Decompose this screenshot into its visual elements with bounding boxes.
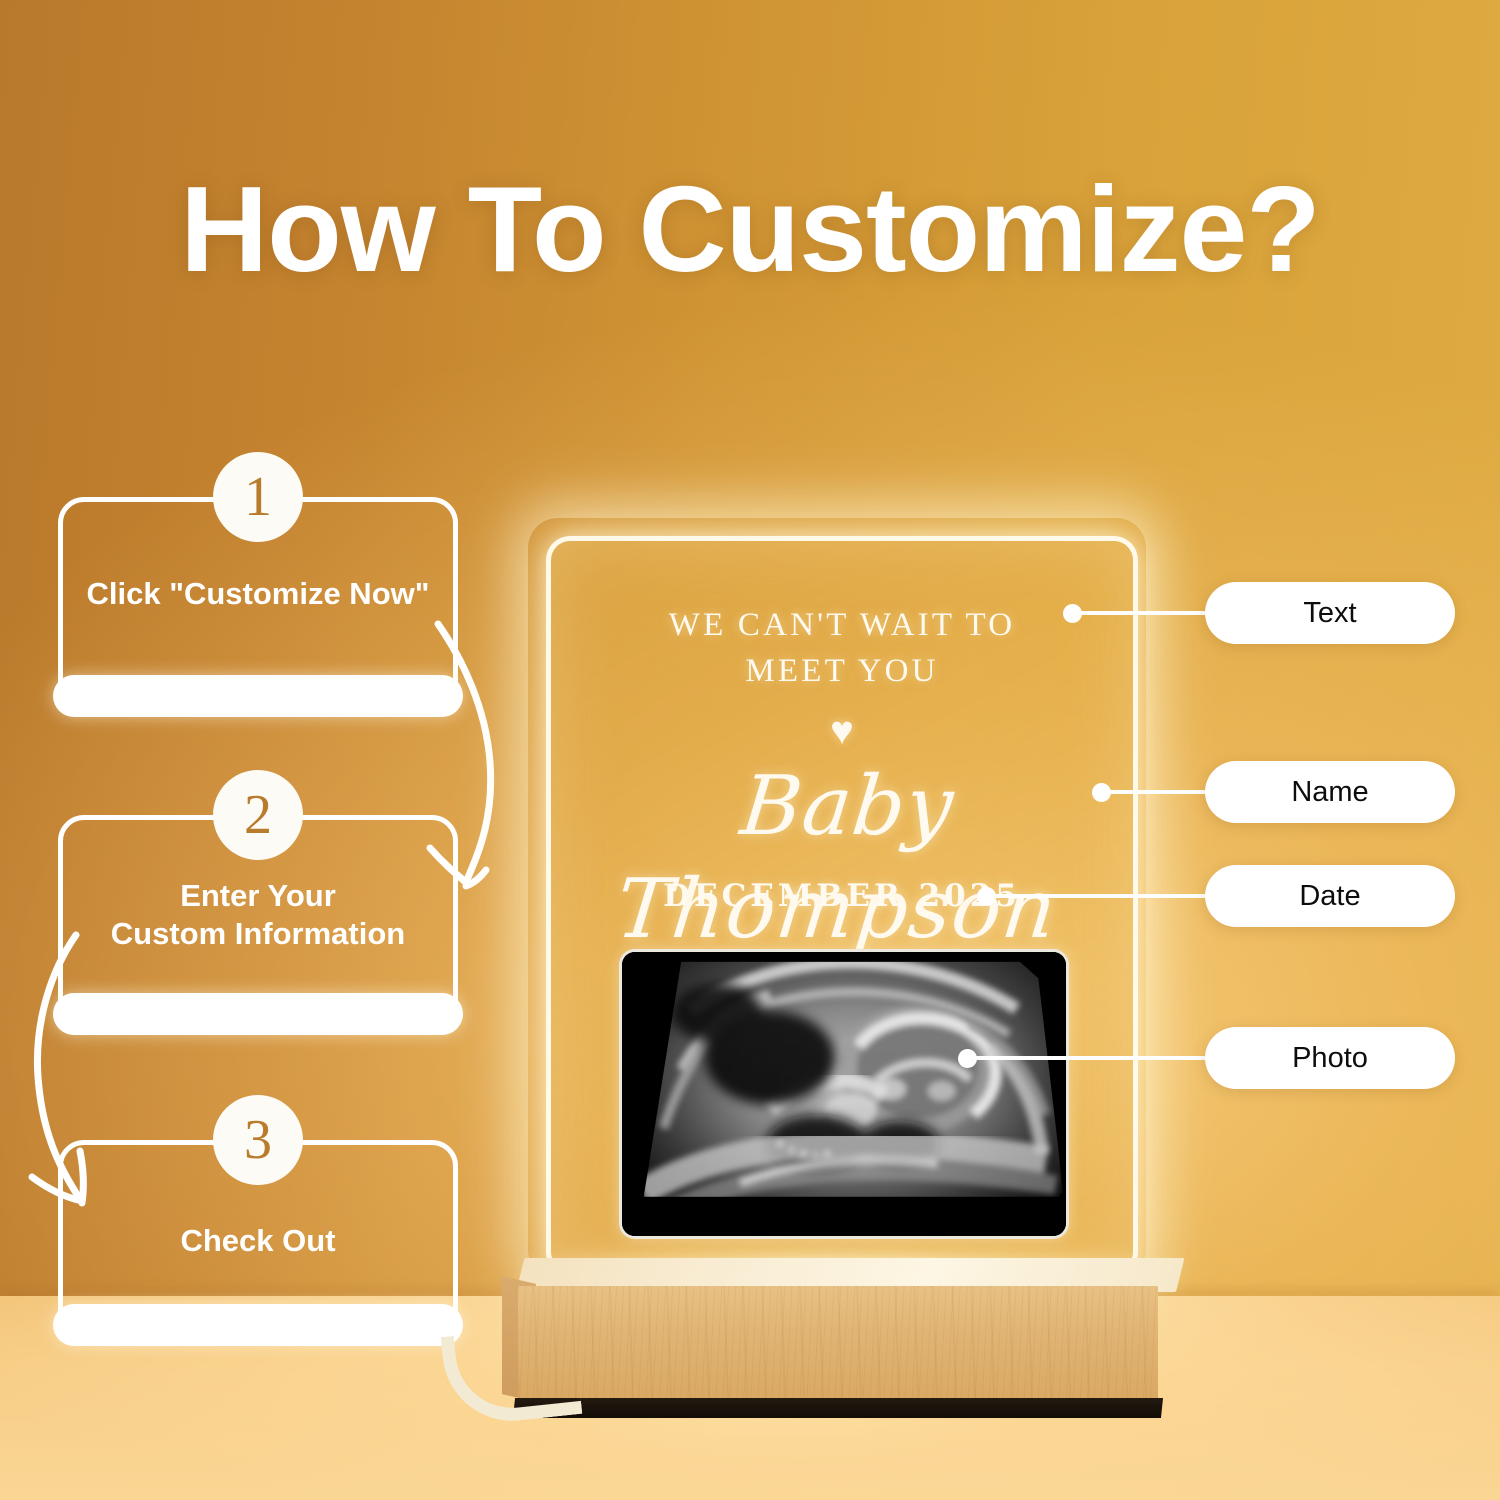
step-label-3: Check Out [58,1222,458,1260]
step-label-2: Enter Your Custom Information [58,877,458,953]
infographic-canvas: How To Customize? 1 Click "Customize Now… [0,0,1500,1500]
plaque-name: Baby Thompson [546,756,1138,961]
callout-pill-date[interactable]: Date [1205,865,1455,927]
step-card-3: 3 Check Out [58,1140,458,1336]
plaque-photo-frame [619,949,1069,1239]
base-bottom-shadow [513,1398,1163,1418]
plaque-headline: WE CAN'T WAIT TO MEET YOU [551,603,1133,694]
product-acrylic-plaque: WE CAN'T WAIT TO MEET YOU ♥ Baby Thompso… [520,510,1170,1300]
base-front-face [518,1286,1158,1402]
plaque-headline-line-1: WE CAN'T WAIT TO [551,603,1133,649]
page-title: How To Customize? [0,168,1500,290]
step-highlight-bar-2 [53,993,463,1035]
callout-line-photo [967,1056,1212,1060]
step-card-2: 2 Enter Your Custom Information [58,815,458,1025]
callout-pill-name[interactable]: Name [1205,761,1455,823]
step-highlight-bar-3 [53,1304,463,1346]
callout-line-text [1072,611,1212,615]
plaque-panel: WE CAN'T WAIT TO MEET YOU ♥ Baby Thompso… [546,536,1138,1276]
step-number-badge-1: 1 [213,452,303,542]
product-wood-base [516,1258,1176,1418]
callout-line-date [986,894,1212,898]
callout-pill-photo[interactable]: Photo [1205,1027,1455,1089]
step-number-badge-2: 2 [213,770,303,860]
ultrasound-scan-image [622,952,1066,1236]
step-number-badge-3: 3 [213,1095,303,1185]
step-label-1: Click "Customize Now" [58,575,458,613]
step-card-1: 1 Click "Customize Now" [58,497,458,707]
callout-pill-text[interactable]: Text [1205,582,1455,644]
heart-icon: ♥ [551,711,1133,751]
step-highlight-bar-1 [53,675,463,717]
plaque-headline-line-2: MEET YOU [551,649,1133,695]
callout-line-name [1101,790,1212,794]
